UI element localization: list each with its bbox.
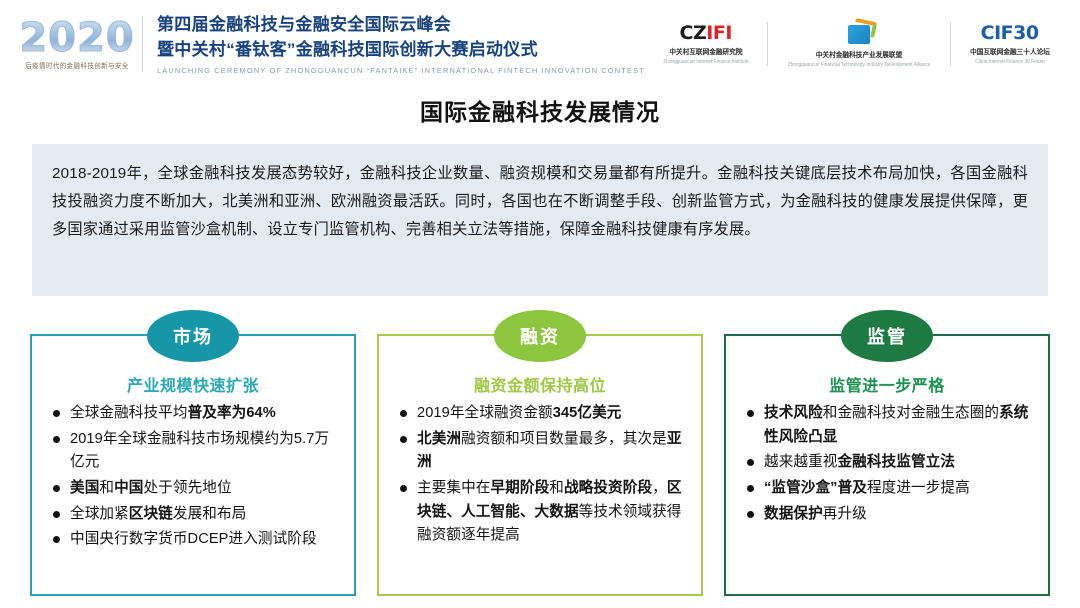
bullet-emphasis: 早期阶段: [490, 480, 549, 496]
page-title: 国际金融科技发展情况: [0, 93, 1080, 127]
bullet-emphasis: 345亿美元: [553, 405, 622, 421]
header-title-english: LAUNCHING CEREMONY OF ZHONGGUANCUN “FANT…: [157, 66, 645, 75]
header-divider: [142, 16, 143, 72]
card-bullet-item: 2019年全球金融科技市场规模约为5.7万亿元: [70, 428, 340, 475]
year-logo-tagline: 后疫情时代的金融科技创新与安全: [23, 61, 132, 71]
card-badge-financing: 融资: [494, 310, 586, 362]
logo-ezifi-cn: 中关村互联网金融研究院: [663, 47, 748, 57]
card-bullet-item: 越来越重视金融科技监管立法: [764, 451, 1034, 475]
cards-row: 市场 产业规模快速扩张 全球金融科技平均普及率为64%2019年全球金融科技市场…: [30, 334, 1050, 596]
bullet-text: 和金融科技对金融生态圈的: [823, 405, 999, 421]
card-bullet-item: 主要集中在早期阶段和战略投资阶段，区块链、人工智能、大数据等技术领域获得融资额逐…: [417, 477, 687, 548]
card-bullets-financing: 2019年全球融资金额345亿美元北美洲融资额和项目数量最多，其次是亚洲主要集中…: [389, 402, 691, 548]
year-logo-number: 2020: [18, 19, 136, 58]
bullet-emphasis: 普及率为64%: [188, 405, 276, 421]
card-bullet-item: 全球金融科技平均普及率为64%: [70, 402, 340, 426]
bullet-text: 再升级: [823, 506, 867, 522]
bullet-text: 和: [549, 480, 564, 496]
card-heading-financing: 融资金额保持高位: [389, 372, 691, 396]
bullet-emphasis: 中国: [114, 480, 143, 496]
year-logo: 2020 后疫情时代的金融科技创新与安全: [18, 17, 136, 71]
bullet-text: ，: [652, 480, 667, 496]
card-bullets-regulation: 技术风险和金融科技对金融生态圈的系统性风险凸显越来越重视金融科技监管立法“监管沙…: [736, 402, 1038, 526]
logo-zgc-cn: 中关村金融科技产业发展联盟: [787, 50, 930, 60]
partner-logos: CZIFI 中关村互联网金融研究院 Zhongguancun Internet …: [645, 20, 1073, 68]
card-badge-regulation: 监管: [841, 310, 933, 362]
card-bullet-item: 2019年全球融资金额345亿美元: [417, 402, 687, 426]
bullet-emphasis: 数据保护: [764, 506, 823, 522]
bullet-emphasis: 区块链: [129, 506, 173, 522]
bullet-emphasis: 战略投资阶段: [564, 480, 652, 496]
ezifi-wordmark-part-b: IFI: [706, 22, 732, 44]
logo-cif30-cn: 中国互联网金融三十人论坛: [969, 47, 1051, 57]
bullet-emphasis: “监管沙盒”普及: [764, 480, 867, 496]
logo-ezifi: CZIFI 中关村互联网金融研究院 Zhongguancun Internet …: [645, 24, 767, 65]
card-market: 市场 产业规模快速扩张 全球金融科技平均普及率为64%2019年全球金融科技市场…: [30, 334, 356, 596]
zgc-cube-icon: [844, 20, 874, 46]
logo-cif30-en: China Internet Finance 30 Forum: [969, 59, 1051, 65]
card-bullet-item: “监管沙盒”普及程度进一步提高: [764, 477, 1034, 501]
bullet-emphasis: 技术风险: [764, 405, 823, 421]
bullet-text: 主要集中在: [417, 480, 490, 496]
header-title-line2: 暨中关村“番钛客”金融科技国际创新大赛启动仪式: [157, 38, 645, 63]
page-header: 2020 后疫情时代的金融科技创新与安全 第四届金融科技与金融安全国际云峰会 暨…: [0, 0, 1080, 88]
bullet-text: 全球金融科技平均: [70, 405, 188, 421]
card-bullets-market: 全球金融科技平均普及率为64%2019年全球金融科技市场规模约为5.7万亿元美国…: [42, 402, 344, 552]
card-bullet-item: 数据保护再升级: [764, 503, 1034, 527]
bullet-text: 全球加紧: [70, 506, 129, 522]
bullet-text: 处于领先地位: [143, 480, 231, 496]
cif30-wordmark-icon: CIF30: [967, 24, 1053, 43]
ezifi-wordmark-icon: CZIFI: [661, 24, 751, 43]
logo-zgc-en: Zhongguancun Financial Technology Indust…: [787, 62, 930, 68]
logo-zgc-alliance: 中关村金融科技产业发展联盟 Zhongguancun Financial Tec…: [768, 20, 950, 68]
card-bullet-item: 美国和中国处于领先地位: [70, 477, 340, 501]
bullet-emphasis: 美国: [70, 480, 99, 496]
card-regulation: 监管 监管进一步严格 技术风险和金融科技对金融生态圈的系统性风险凸显越来越重视金…: [724, 334, 1050, 596]
bullet-emphasis: 北美洲: [417, 431, 461, 447]
card-heading-market: 产业规模快速扩张: [42, 372, 344, 396]
summary-box: 2018-2019年，全球金融科技发展态势较好，金融科技企业数量、融资规模和交易…: [32, 144, 1048, 296]
card-bullet-item: 全球加紧区块链发展和布局: [70, 503, 340, 527]
card-heading-regulation: 监管进一步严格: [736, 372, 1038, 396]
header-title-line1: 第四届金融科技与金融安全国际云峰会: [157, 13, 645, 38]
logo-ezifi-en: Zhongguancun Internet Finance Institute: [663, 59, 748, 65]
bullet-text: 中国央行数字货币DCEP进入测试阶段: [70, 531, 317, 547]
card-bullet-item: 技术风险和金融科技对金融生态圈的系统性风险凸显: [764, 402, 1034, 449]
card-bullet-item: 中国央行数字货币DCEP进入测试阶段: [70, 528, 340, 552]
bullet-text: 融资额和项目数量最多，其次是: [461, 431, 667, 447]
bullet-text: 程度进一步提高: [867, 480, 970, 496]
card-financing: 融资 融资金额保持高位 2019年全球融资金额345亿美元北美洲融资额和项目数量…: [377, 334, 703, 596]
bullet-text: 发展和布局: [173, 506, 246, 522]
bullet-text: 2019年全球金融科技市场规模约为5.7万亿元: [70, 431, 329, 471]
card-bullet-item: 北美洲融资额和项目数量最多，其次是亚洲: [417, 428, 687, 475]
bullet-text: 和: [99, 480, 114, 496]
logo-cif30: CIF30 中国互联网金融三十人论坛 China Internet Financ…: [951, 24, 1069, 65]
summary-text: 2018-2019年，全球金融科技发展态势较好，金融科技企业数量、融资规模和交易…: [52, 160, 1028, 244]
ezifi-wordmark-part-a: CZ: [680, 22, 707, 44]
header-title-block: 第四届金融科技与金融安全国际云峰会 暨中关村“番钛客”金融科技国际创新大赛启动仪…: [157, 13, 645, 74]
zgc-cube-shape: [848, 25, 870, 44]
bullet-emphasis: 金融科技监管立法: [837, 454, 955, 470]
bullet-text: 越来越重视: [764, 454, 837, 470]
bullet-text: 2019年全球融资金额: [417, 405, 553, 421]
card-badge-market: 市场: [147, 310, 239, 362]
